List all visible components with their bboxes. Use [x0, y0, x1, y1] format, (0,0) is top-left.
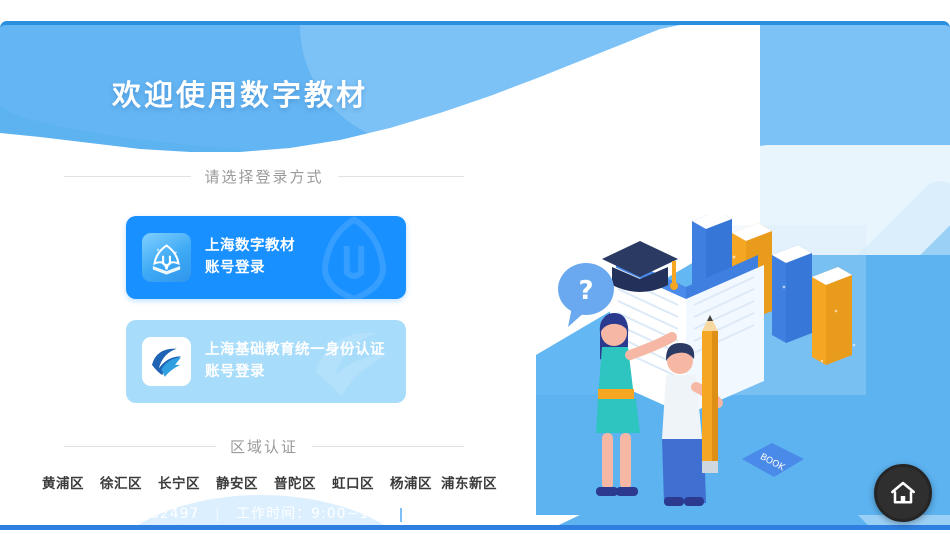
login-section-header: 请选择登录方式 [64, 166, 464, 187]
district-杨浦区[interactable]: 杨浦区 [382, 475, 440, 492]
district-row-1: 黄浦区徐汇区长宁区静安区普陀区虹口区杨浦区浦东新区 [34, 475, 534, 492]
district-虹口区[interactable]: 虹口区 [324, 475, 382, 492]
app-stage: ? [0, 21, 950, 530]
rule-left [64, 176, 191, 177]
district-静安区[interactable]: 静安区 [208, 475, 266, 492]
district-浦东新区[interactable]: 浦东新区 [440, 475, 498, 492]
region-section-label: 区域认证 [230, 436, 298, 457]
login-option-line2: 账号登录 [205, 362, 385, 383]
district-青浦区[interactable]: 青浦区 [324, 524, 382, 525]
text-caret [400, 508, 402, 522]
district-嘉定区[interactable]: 嘉定区 [150, 524, 208, 525]
district-普陀区[interactable]: 普陀区 [266, 475, 324, 492]
page-title: 欢迎使用数字教材 [0, 72, 480, 114]
district-宝山区[interactable]: 宝山区 [92, 524, 150, 525]
district-奉贤区[interactable]: 奉贤区 [382, 524, 440, 525]
top-white-strip [0, 0, 950, 21]
login-section-label: 请选择登录方式 [205, 166, 324, 187]
district-松江区[interactable]: 松江区 [266, 524, 324, 525]
district-徐汇区[interactable]: 徐汇区 [92, 475, 150, 492]
region-section-header: 区域认证 [64, 436, 464, 457]
login-page: ? [0, 0, 950, 534]
watermark-logo-icon [294, 216, 406, 299]
login-option-label: 上海数字教材 账号登录 [205, 236, 295, 278]
home-button[interactable] [874, 464, 932, 522]
unified-identity-icon [142, 337, 191, 386]
login-option-line2: 账号登录 [205, 258, 295, 279]
district-黄浦区[interactable]: 黄浦区 [34, 475, 92, 492]
home-icon [888, 478, 918, 508]
district-row-2: 闵行区宝山区嘉定区金山区松江区青浦区奉贤区崇明区 [34, 524, 534, 525]
login-option-line1: 上海基础教育统一身份认证 [205, 340, 385, 361]
rule-right [312, 446, 464, 447]
login-option-digital-textbook[interactable]: 上海数字教材 账号登录 [126, 216, 406, 299]
district-金山区[interactable]: 金山区 [208, 524, 266, 525]
rule-right [338, 176, 465, 177]
district-长宁区[interactable]: 长宁区 [150, 475, 208, 492]
district-闵行区[interactable]: 闵行区 [34, 524, 92, 525]
digital-textbook-icon [142, 233, 191, 282]
login-option-label: 上海基础教育统一身份认证 账号登录 [205, 340, 385, 382]
login-option-line1: 上海数字教材 [205, 236, 295, 257]
login-option-unified-identity[interactable]: 上海基础教育统一身份认证 账号登录 [126, 320, 406, 403]
rule-left [64, 446, 216, 447]
district-崇明区[interactable]: 崇明区 [440, 524, 498, 525]
